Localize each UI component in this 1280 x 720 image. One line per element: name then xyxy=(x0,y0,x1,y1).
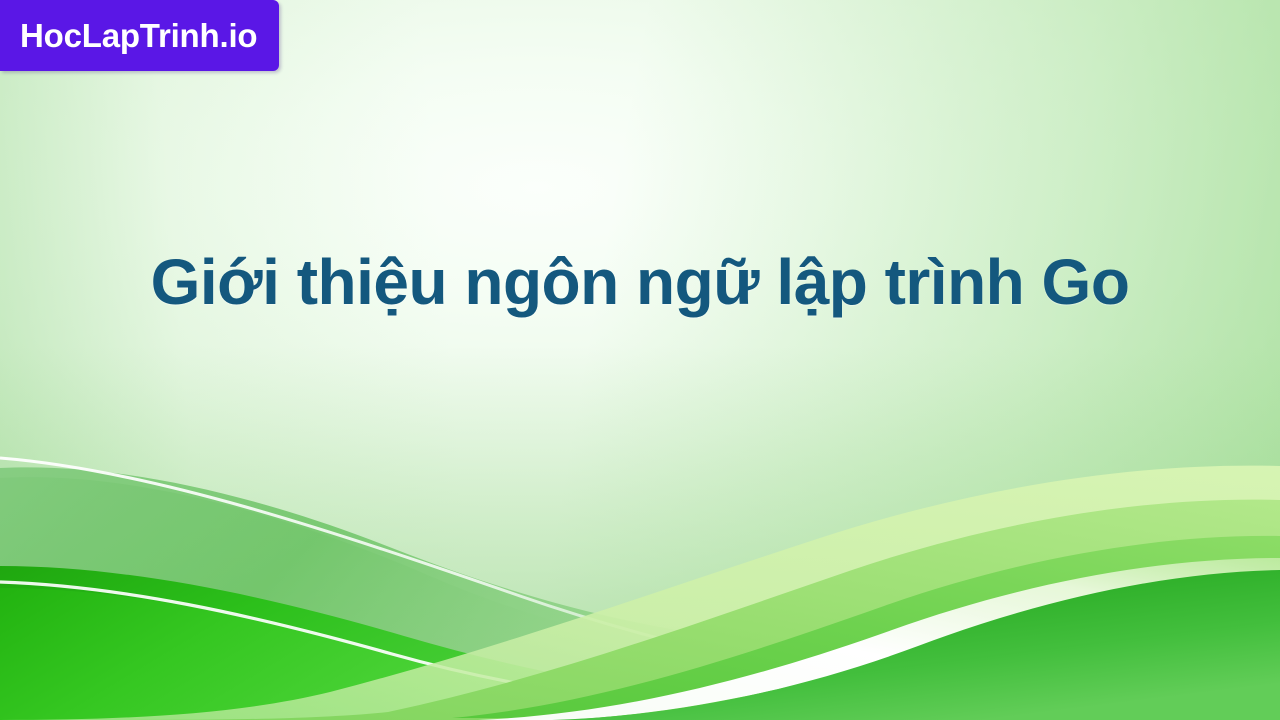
brand-badge-label: HocLapTrinh.io xyxy=(20,19,257,52)
decorative-wave-group xyxy=(0,0,1280,720)
page-title: Giới thiệu ngôn ngữ lập trình Go xyxy=(64,246,1216,319)
title-container: Giới thiệu ngôn ngữ lập trình Go xyxy=(0,246,1280,319)
slide-canvas: HocLapTrinh.io Giới thiệu ngôn ngữ lập t… xyxy=(0,0,1280,720)
brand-badge[interactable]: HocLapTrinh.io xyxy=(0,0,279,71)
